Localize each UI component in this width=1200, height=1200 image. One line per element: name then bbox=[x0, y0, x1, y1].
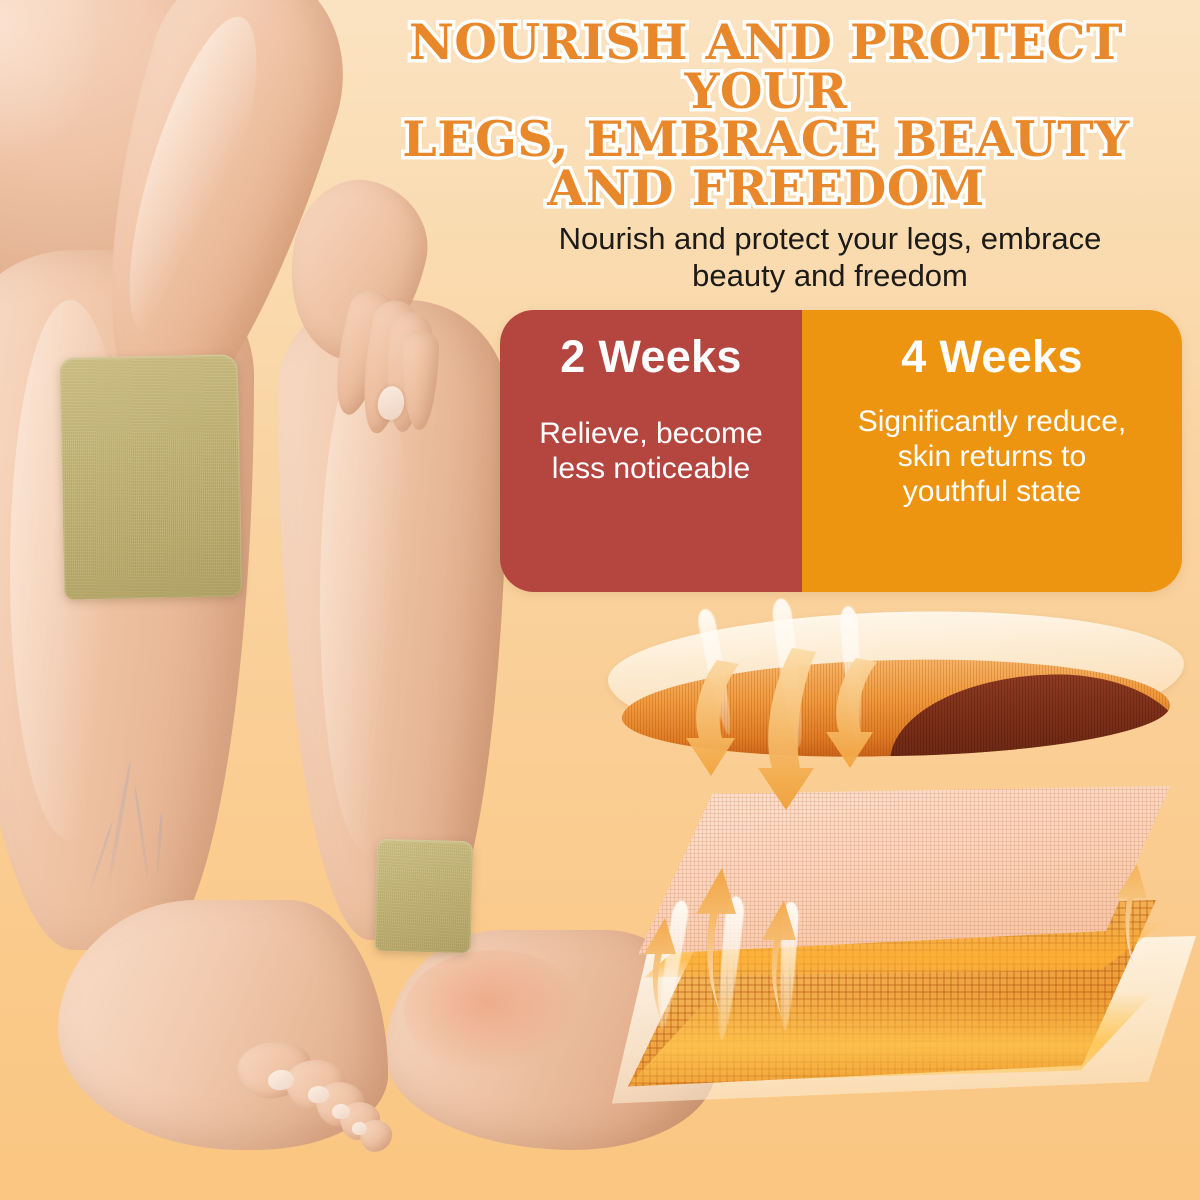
timeline-comparison: 2 Weeks Relieve, become less noticeable … bbox=[500, 310, 1182, 592]
absorption-diagram bbox=[600, 600, 1200, 1130]
page-title: NOURISH AND PROTECT YOUR LEGS, EMBRACE B… bbox=[336, 18, 1196, 212]
release-arrow-up-icon bbox=[644, 918, 690, 1026]
heel-blush bbox=[404, 950, 584, 1074]
comparison-panel-4-weeks: 4 Weeks Significantly reduce, skin retur… bbox=[802, 310, 1182, 592]
banner-canvas: NOURISH AND PROTECT YOUR LEGS, EMBRACE B… bbox=[0, 0, 1200, 1200]
calf-patch bbox=[59, 354, 242, 600]
toenail bbox=[352, 1122, 367, 1135]
absorption-arrow-down-icon bbox=[686, 660, 756, 778]
panel-body-2-weeks: Relieve, become less noticeable bbox=[527, 416, 774, 486]
panel-body-4-weeks: Significantly reduce, skin returns to yo… bbox=[846, 404, 1138, 509]
toenail bbox=[308, 1086, 330, 1104]
page-subtitle: Nourish and protect your legs, embrace b… bbox=[470, 220, 1190, 294]
absorption-arrow-down-icon bbox=[826, 658, 894, 770]
panel-title-2-weeks: 2 Weeks bbox=[560, 332, 741, 382]
comparison-panel-2-weeks: 2 Weeks Relieve, become less noticeable bbox=[500, 310, 802, 592]
release-arrow-up-icon bbox=[762, 900, 810, 1020]
ankle-patch bbox=[375, 839, 474, 953]
panel-title-4-weeks: 4 Weeks bbox=[901, 332, 1082, 382]
lesion-bump bbox=[890, 671, 1170, 762]
release-arrow-up-icon bbox=[696, 868, 754, 1014]
toenail bbox=[332, 1104, 350, 1119]
release-arrow-up-icon bbox=[1116, 864, 1160, 968]
